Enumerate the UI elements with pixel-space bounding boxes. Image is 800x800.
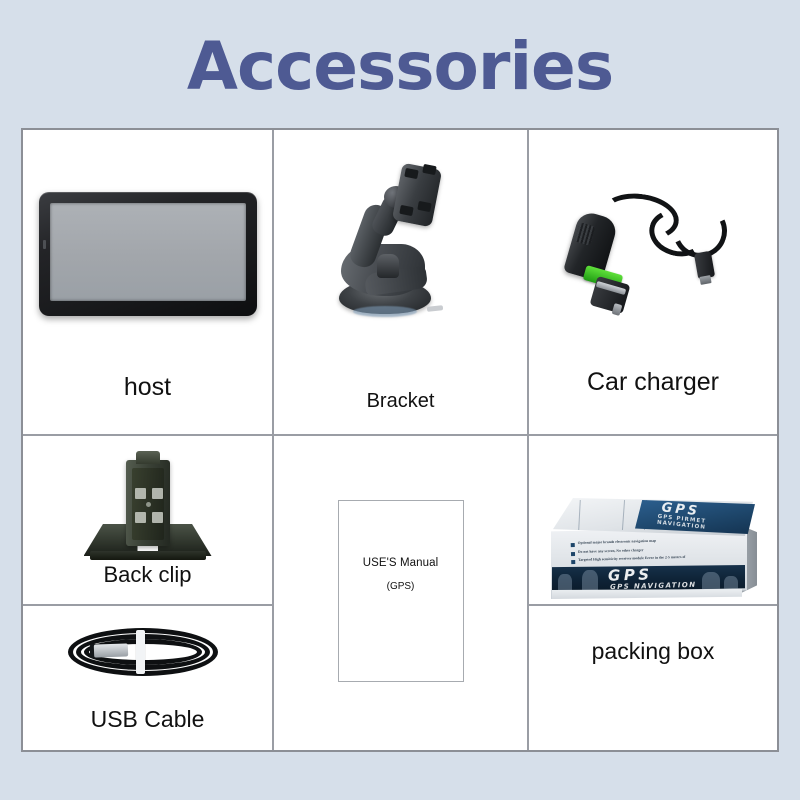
box-bullet-text: Do not have any screen, No other charger <box>578 549 644 555</box>
back-clip-base <box>90 551 206 560</box>
cell-bracket[interactable]: Bracket <box>274 130 527 434</box>
back-clip-slot-tr <box>152 488 163 499</box>
back-clip-slot-bl <box>135 512 146 523</box>
usb-cable-image <box>60 622 236 684</box>
host-image <box>39 192 257 316</box>
box-band-figure-1 <box>558 574 572 592</box>
accessories-grid: host <box>21 128 779 752</box>
box-photo-band: GPS GPS NAVIGATION <box>552 565 745 592</box>
caption-packing-box: packing box <box>592 638 715 665</box>
charger-barrel <box>590 276 631 314</box>
box-bullet-item: Do not have any screen, No other charger <box>571 546 721 555</box>
box-bullet-item: Targeted High sensitivity receiver modul… <box>571 555 721 564</box>
accessories-infographic: Accessories host <box>0 0 800 800</box>
host-side-button-icon <box>43 240 46 249</box>
back-clip-top-tab <box>136 451 160 464</box>
cell-manual[interactable]: USE'S Manual (GPS) <box>274 436 527 750</box>
back-clip-slot-br <box>152 512 163 523</box>
cell-host[interactable]: host <box>23 130 272 434</box>
caption-host: host <box>124 373 171 402</box>
cell-back-clip[interactable]: Back clip <box>23 436 272 604</box>
suction-cup-rim <box>353 306 417 317</box>
caption-car-charger: Car charger <box>587 368 719 397</box>
manual-subtitle: (GPS) <box>387 581 415 592</box>
back-clip-image <box>78 450 218 560</box>
cell-usb-cable[interactable]: USB Cable <box>23 606 272 750</box>
caption-back-clip: Back clip <box>103 562 191 588</box>
manual-title: USE'S Manual <box>363 557 439 569</box>
charger-mini-usb-tip <box>699 275 711 285</box>
manual-image: USE'S Manual (GPS) <box>338 500 464 682</box>
suction-release-tab <box>426 305 442 312</box>
host-screen <box>50 203 246 301</box>
usb-connector-metal <box>93 643 127 657</box>
car-charger-image <box>563 190 743 318</box>
bullet-square-icon <box>571 551 575 555</box>
bracket-knob <box>377 254 399 278</box>
users-manual-booklet: USE'S Manual (GPS) <box>338 500 464 682</box>
back-clip-screw <box>146 502 151 507</box>
bracket-image <box>331 160 471 320</box>
usb-cable-tie <box>136 630 145 674</box>
caption-usb-cable: USB Cable <box>91 706 205 733</box>
box-bottom-edge <box>552 589 742 599</box>
box-bullet-text: Targeted High sensitivity receiver modul… <box>578 556 685 563</box>
packing-box-image: GPS GPS PIRMET NAVIGATION Optional major… <box>549 498 757 602</box>
page-title: Accessories <box>0 28 800 105</box>
box-bullet-text: Optional major brands electronic navigat… <box>578 540 656 546</box>
box-band-figure-2 <box>582 570 598 592</box>
charger-center-pin <box>612 303 623 316</box>
bullet-square-icon <box>571 543 575 547</box>
cell-car-charger[interactable]: Car charger <box>529 130 777 434</box>
bullet-square-icon <box>571 560 575 564</box>
box-bullet-list: Optional major brands electronic navigat… <box>571 538 722 568</box>
caption-bracket: Bracket <box>367 390 435 413</box>
back-clip-slot-tl <box>135 488 146 499</box>
cell-packing-box[interactable]: GPS GPS PIRMET NAVIGATION Optional major… <box>529 436 777 750</box>
